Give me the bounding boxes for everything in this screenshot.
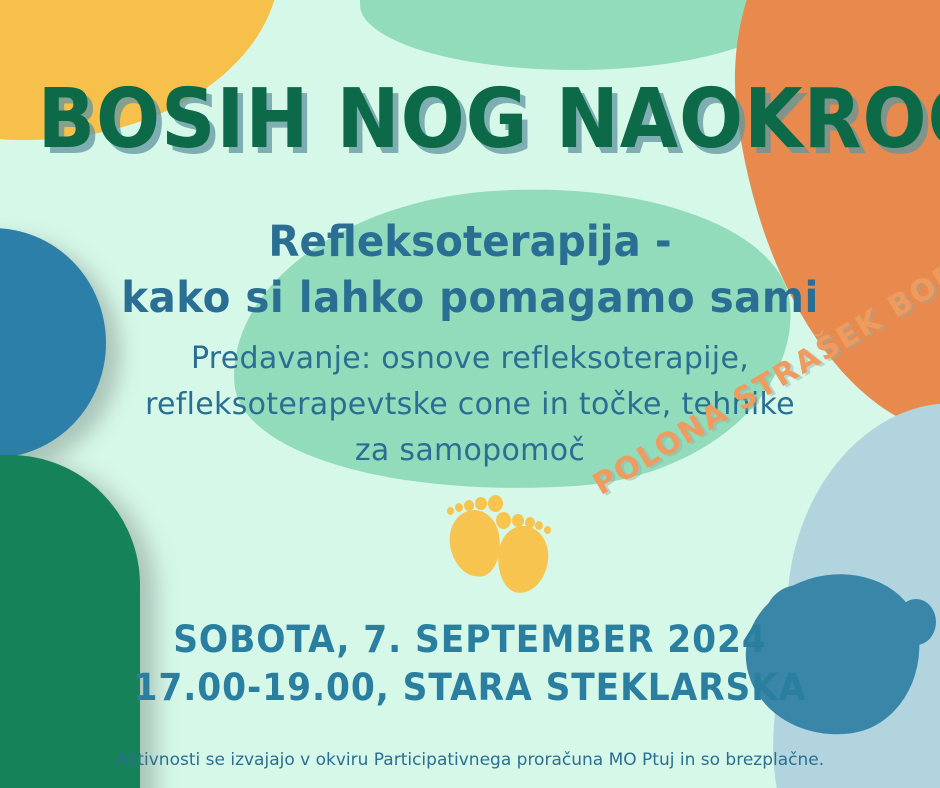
page-title: BOSIH NOG NAOKROG! bbox=[38, 72, 903, 167]
footprints-icon bbox=[440, 488, 560, 584]
poster-subtitle-line-2: kako si lahko pomagamo sami bbox=[28, 270, 912, 326]
poster-subtitle-line-1: Refleksoterapija - bbox=[28, 214, 912, 270]
footprint-left-toe-2 bbox=[475, 497, 487, 510]
footprint-right-sole bbox=[495, 524, 551, 595]
footprint-right-toe-5 bbox=[544, 526, 551, 534]
poster-subtitle: Refleksoterapija - kako si lahko pomagam… bbox=[28, 214, 912, 326]
event-datetime: SOBOTA, 7. SEPTEMBER 2024 17.00-19.00, S… bbox=[33, 616, 907, 712]
event-poster: BOSIH NOG NAOKROG! Refleksoterapija - ka… bbox=[0, 0, 940, 788]
poster-description-line-3: za samopomoč bbox=[0, 428, 940, 474]
mint-arc-shape bbox=[360, 0, 790, 70]
footprint-left-toe-4 bbox=[455, 503, 463, 512]
footprint-left-toe-3 bbox=[464, 500, 474, 511]
poster-footer-note: Aktivnosti se izvajajo v okviru Particip… bbox=[0, 750, 940, 770]
poster-description-line-2: refleksoterapevtske cone in točke, tehni… bbox=[0, 382, 940, 428]
footprint-right-toe-1 bbox=[496, 512, 511, 529]
footprint-right-toe-2 bbox=[512, 514, 524, 527]
event-date: SOBOTA, 7. SEPTEMBER 2024 bbox=[33, 616, 907, 664]
footprint-left-toe-1 bbox=[488, 495, 503, 512]
footprint-left-toe-5 bbox=[447, 507, 454, 515]
footprint-right-toe-4 bbox=[535, 521, 543, 530]
footprint-right-toe-3 bbox=[525, 517, 535, 528]
event-time-location: 17.00-19.00, STARA STEKLARSKA bbox=[33, 664, 907, 712]
